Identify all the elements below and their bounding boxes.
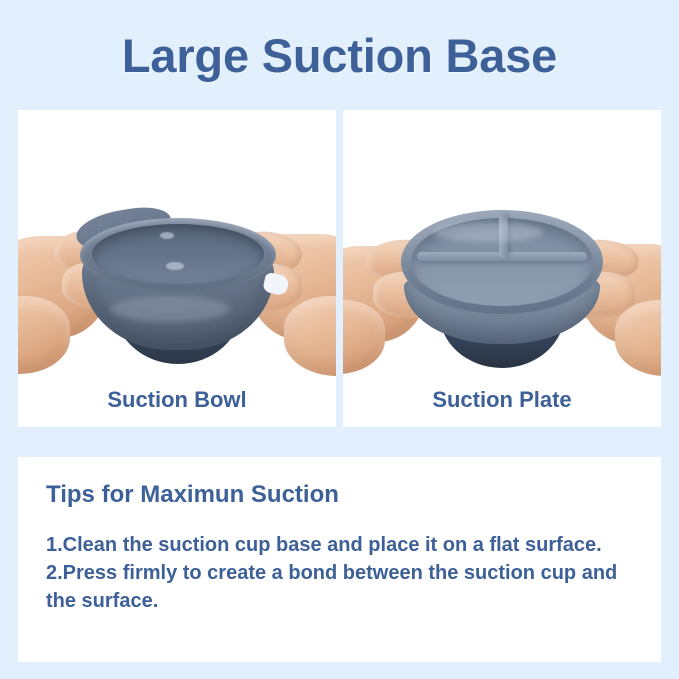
tip-item: 2.Press firmly to create a bond between … — [46, 559, 638, 615]
bowl-sheen — [110, 296, 230, 322]
product-photo-row: Suction Bowl — [18, 110, 661, 427]
card-caption-suction-plate: Suction Plate — [343, 387, 661, 413]
bowl-highlight-spot — [160, 232, 174, 239]
product-card-suction-bowl: Suction Bowl — [18, 110, 336, 427]
page-title: Large Suction Base — [0, 26, 679, 86]
tips-card: Tips for Maximun Suction 1.Clean the suc… — [18, 457, 661, 662]
tip-item: 1.Clean the suction cup base and place i… — [46, 531, 638, 559]
suction-plate-photo — [343, 110, 661, 380]
infographic-page: Large Suction Base — [0, 0, 679, 679]
tips-heading: Tips for Maximun Suction — [46, 481, 339, 509]
bowl-interior — [92, 224, 264, 284]
product-card-suction-plate: Suction Plate — [343, 110, 661, 427]
tips-list: 1.Clean the suction cup base and place i… — [46, 531, 638, 615]
card-caption-suction-bowl: Suction Bowl — [18, 387, 336, 413]
suction-bowl-photo — [18, 110, 336, 380]
plate-sheen — [433, 222, 543, 242]
bowl-highlight-spot — [166, 262, 184, 270]
